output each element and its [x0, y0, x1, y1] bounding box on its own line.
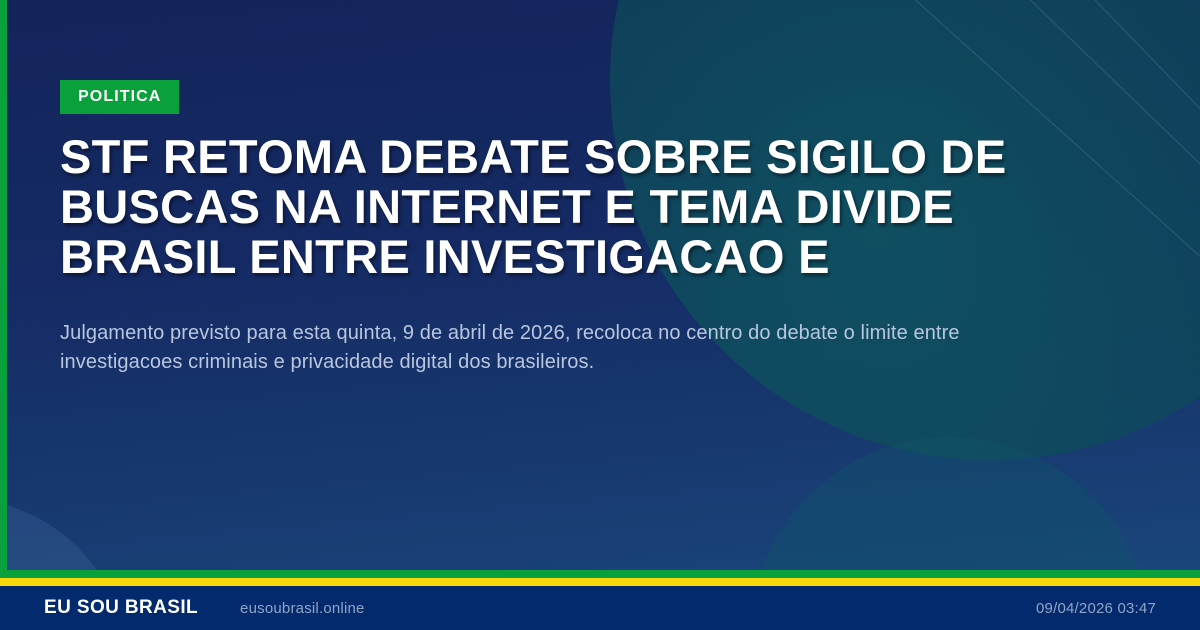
footer-bar: EU SOU BRASIL eusoubrasil.online 09/04/2… [0, 586, 1200, 630]
card-content: POLITICA STF RETOMA DEBATE SOBRE SIGILO … [0, 0, 1200, 570]
social-share-card: POLITICA STF RETOMA DEBATE SOBRE SIGILO … [0, 0, 1200, 630]
flag-stripe-green [0, 570, 1200, 578]
category-badge: POLITICA [60, 80, 179, 114]
site-url: eusoubrasil.online [240, 600, 365, 617]
timestamp: 09/04/2026 03:47 [1036, 600, 1156, 617]
page-title: STF RETOMA DEBATE SOBRE SIGILO DE BUSCAS… [60, 132, 1090, 281]
flag-stripe-yellow [0, 578, 1200, 586]
article-subtitle: Julgamento previsto para esta quinta, 9 … [60, 319, 1035, 377]
brand-name: EU SOU BRASIL [44, 597, 198, 619]
left-accent-bar [0, 0, 7, 570]
